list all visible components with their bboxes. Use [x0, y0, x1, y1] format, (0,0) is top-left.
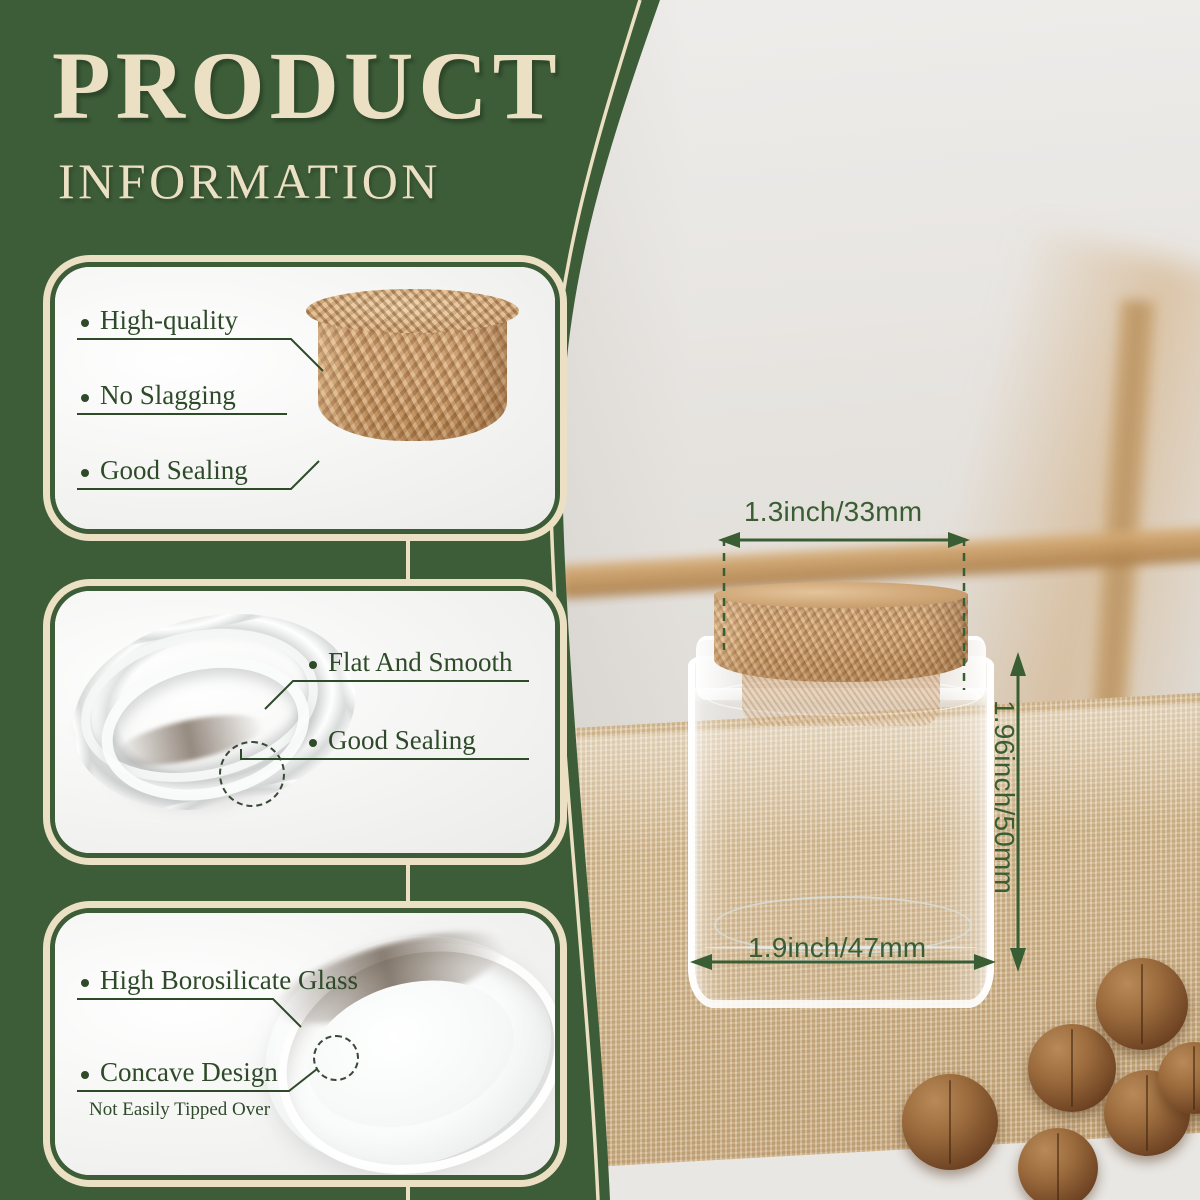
bullet-item: Flat And Smooth [309, 647, 513, 678]
bullet-item: High Borosilicate Glass [81, 965, 358, 996]
bullet-label: Flat And Smooth [328, 647, 513, 677]
bullet-item: No Slagging [81, 380, 236, 411]
page-title-block: PRODUCT INFORMATION [52, 38, 562, 206]
bullet-label: No Slagging [100, 380, 236, 410]
bullet-dot [81, 979, 89, 987]
bullet-item: Good Sealing [309, 725, 476, 756]
leader-lines [55, 591, 555, 853]
bullet-dot [309, 661, 317, 669]
bullet-dot [81, 319, 89, 327]
bullet-label: Concave Design [100, 1057, 278, 1087]
feature-card-cork-lid[interactable]: High-quality No Slagging Good Sealing [50, 262, 560, 534]
bullet-item: High-quality [81, 305, 238, 336]
bullet-label: High Borosilicate Glass [100, 965, 358, 995]
feature-card-jar-base[interactable]: High Borosilicate Glass Concave Design N… [50, 908, 560, 1180]
bullet-label: Good Sealing [100, 455, 248, 485]
bullet-label: High-quality [100, 305, 238, 335]
bullet-subtext: Not Easily Tipped Over [89, 1099, 270, 1121]
page-title: PRODUCT [52, 38, 562, 134]
bullet-dot [81, 394, 89, 402]
feature-card-jar-rim[interactable]: Flat And Smooth Good Sealing [50, 586, 560, 858]
bullet-item: Concave Design [81, 1057, 278, 1088]
bullet-dot [81, 1071, 89, 1079]
leader-lines [55, 913, 555, 1175]
bullet-dot [309, 739, 317, 747]
bullet-dot [81, 469, 89, 477]
infographic-canvas: 1.3inch/33mm 1.9inch/47mm 1.96inch/50mm … [0, 0, 1200, 1200]
page-subtitle: INFORMATION [58, 156, 562, 206]
bullet-label: Good Sealing [328, 725, 476, 755]
bullet-item: Good Sealing [81, 455, 248, 486]
